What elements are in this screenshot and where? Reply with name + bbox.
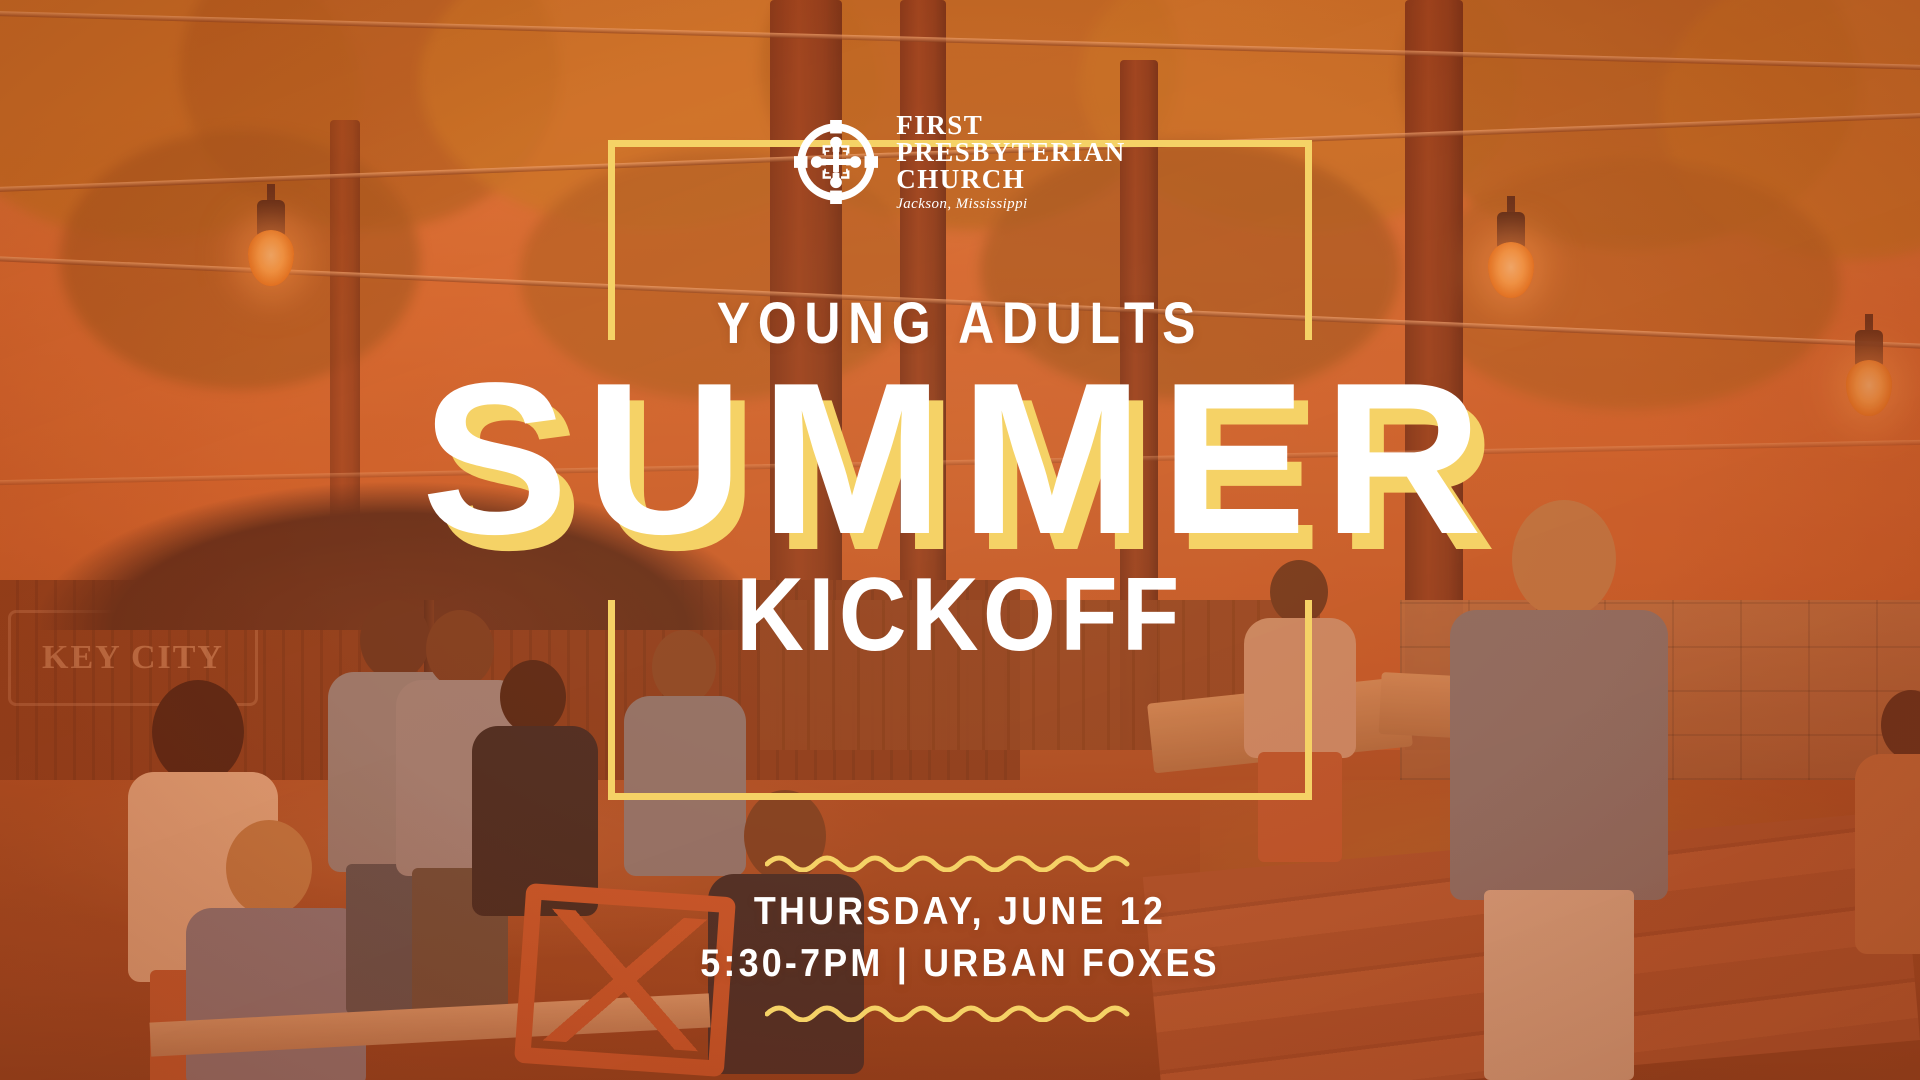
details-block: THURSDAY, JUNE 12 5:30-7PM | URBAN FOXES <box>0 852 1920 1022</box>
wavy-line-divider-icon <box>765 1002 1155 1022</box>
church-logo-lockup: FIRST PRESBYTERIAN CHURCH Jackson, Missi… <box>0 112 1920 212</box>
event-time-venue: 5:30-7PM | URBAN FOXES <box>77 942 1843 986</box>
headline-block: YOUNG ADULTS SUMMER SUMMER KICKOFF <box>0 290 1920 667</box>
event-flyer: KEY CITY <box>0 0 1920 1080</box>
logo-line-3: CHURCH <box>896 166 1126 193</box>
wavy-line-divider-icon <box>765 852 1155 872</box>
celtic-cross-compass-emblem-icon <box>794 120 878 204</box>
logo-location: Jackson, Mississippi <box>896 197 1126 212</box>
logo-line-1: FIRST <box>896 112 1126 139</box>
church-name: FIRST PRESBYTERIAN CHURCH Jackson, Missi… <box>896 112 1126 212</box>
subtitle-text: KICKOFF <box>96 563 1824 667</box>
logo-line-2: PRESBYTERIAN <box>896 139 1126 166</box>
main-title: SUMMER SUMMER <box>0 363 1920 553</box>
event-date: THURSDAY, JUNE 12 <box>77 890 1843 934</box>
main-title-text: SUMMER <box>0 363 1920 553</box>
